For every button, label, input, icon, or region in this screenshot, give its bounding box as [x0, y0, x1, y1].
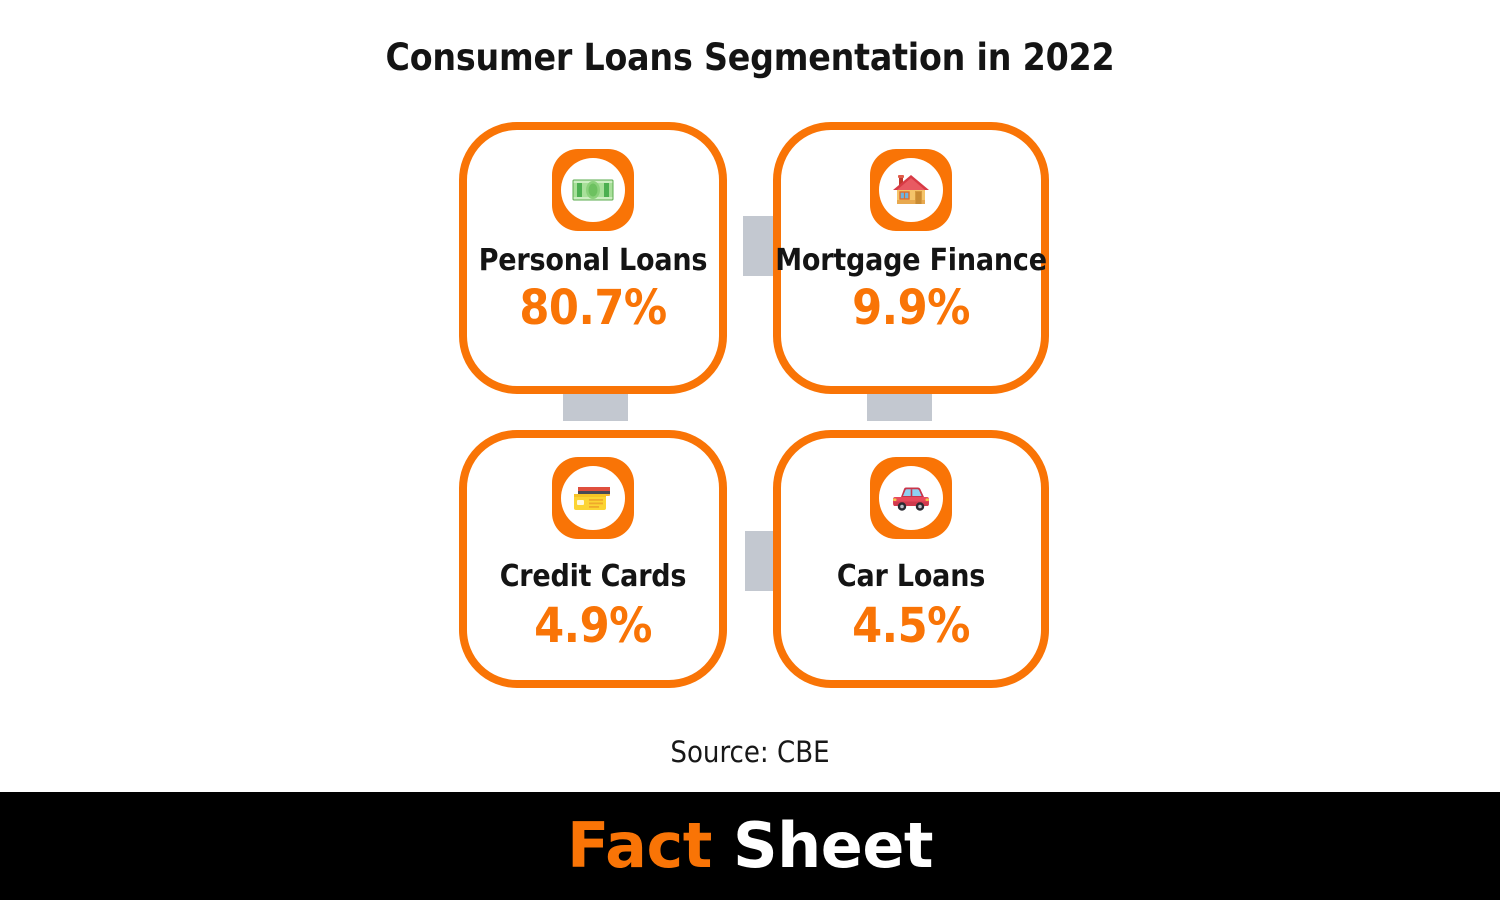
footer-banner: Fact Sheet: [0, 792, 1500, 900]
segment-card-label: Credit Cards: [500, 561, 687, 593]
icon-disc: [879, 466, 943, 530]
icon-badge: [552, 149, 634, 231]
segment-card-label: Car Loans: [837, 561, 985, 593]
page-title: Consumer Loans Segmentation in 2022: [0, 36, 1500, 79]
brand-wordmark-rest: Sheet: [712, 809, 933, 882]
icon-badge: [552, 457, 634, 539]
segment-card-credit-cards[interactable]: Credit Cards 4.9%: [459, 430, 727, 688]
segment-card-value: 4.9%: [534, 601, 652, 651]
icon-disc: [561, 466, 625, 530]
brand-wordmark: Fact Sheet: [567, 815, 933, 877]
icon-disc: [879, 158, 943, 222]
segment-card-personal-loans[interactable]: Personal Loans 80.7%: [459, 122, 727, 394]
segment-card-value: 4.5%: [852, 601, 970, 651]
segment-card-label: Personal Loans: [479, 245, 708, 277]
icon-disc: [561, 158, 625, 222]
banknote-icon: [570, 167, 616, 213]
icon-badge: [870, 457, 952, 539]
house-icon: [888, 167, 934, 213]
credit-card-icon: [570, 475, 616, 521]
segment-card-value: 9.9%: [852, 283, 970, 333]
icon-badge: [870, 149, 952, 231]
segment-card-car-loans[interactable]: Car Loans 4.5%: [773, 430, 1049, 688]
segment-card-label: Mortgage Finance: [775, 245, 1047, 277]
segmentation-card-grid: Personal Loans 80.7%: [455, 118, 1055, 700]
segment-card-value: 80.7%: [519, 283, 666, 333]
segment-card-mortgage-finance[interactable]: Mortgage Finance 9.9%: [773, 122, 1049, 394]
car-icon: [888, 475, 934, 521]
source-note: Source: CBE: [0, 735, 1500, 769]
brand-wordmark-accent: Fact: [567, 809, 712, 882]
